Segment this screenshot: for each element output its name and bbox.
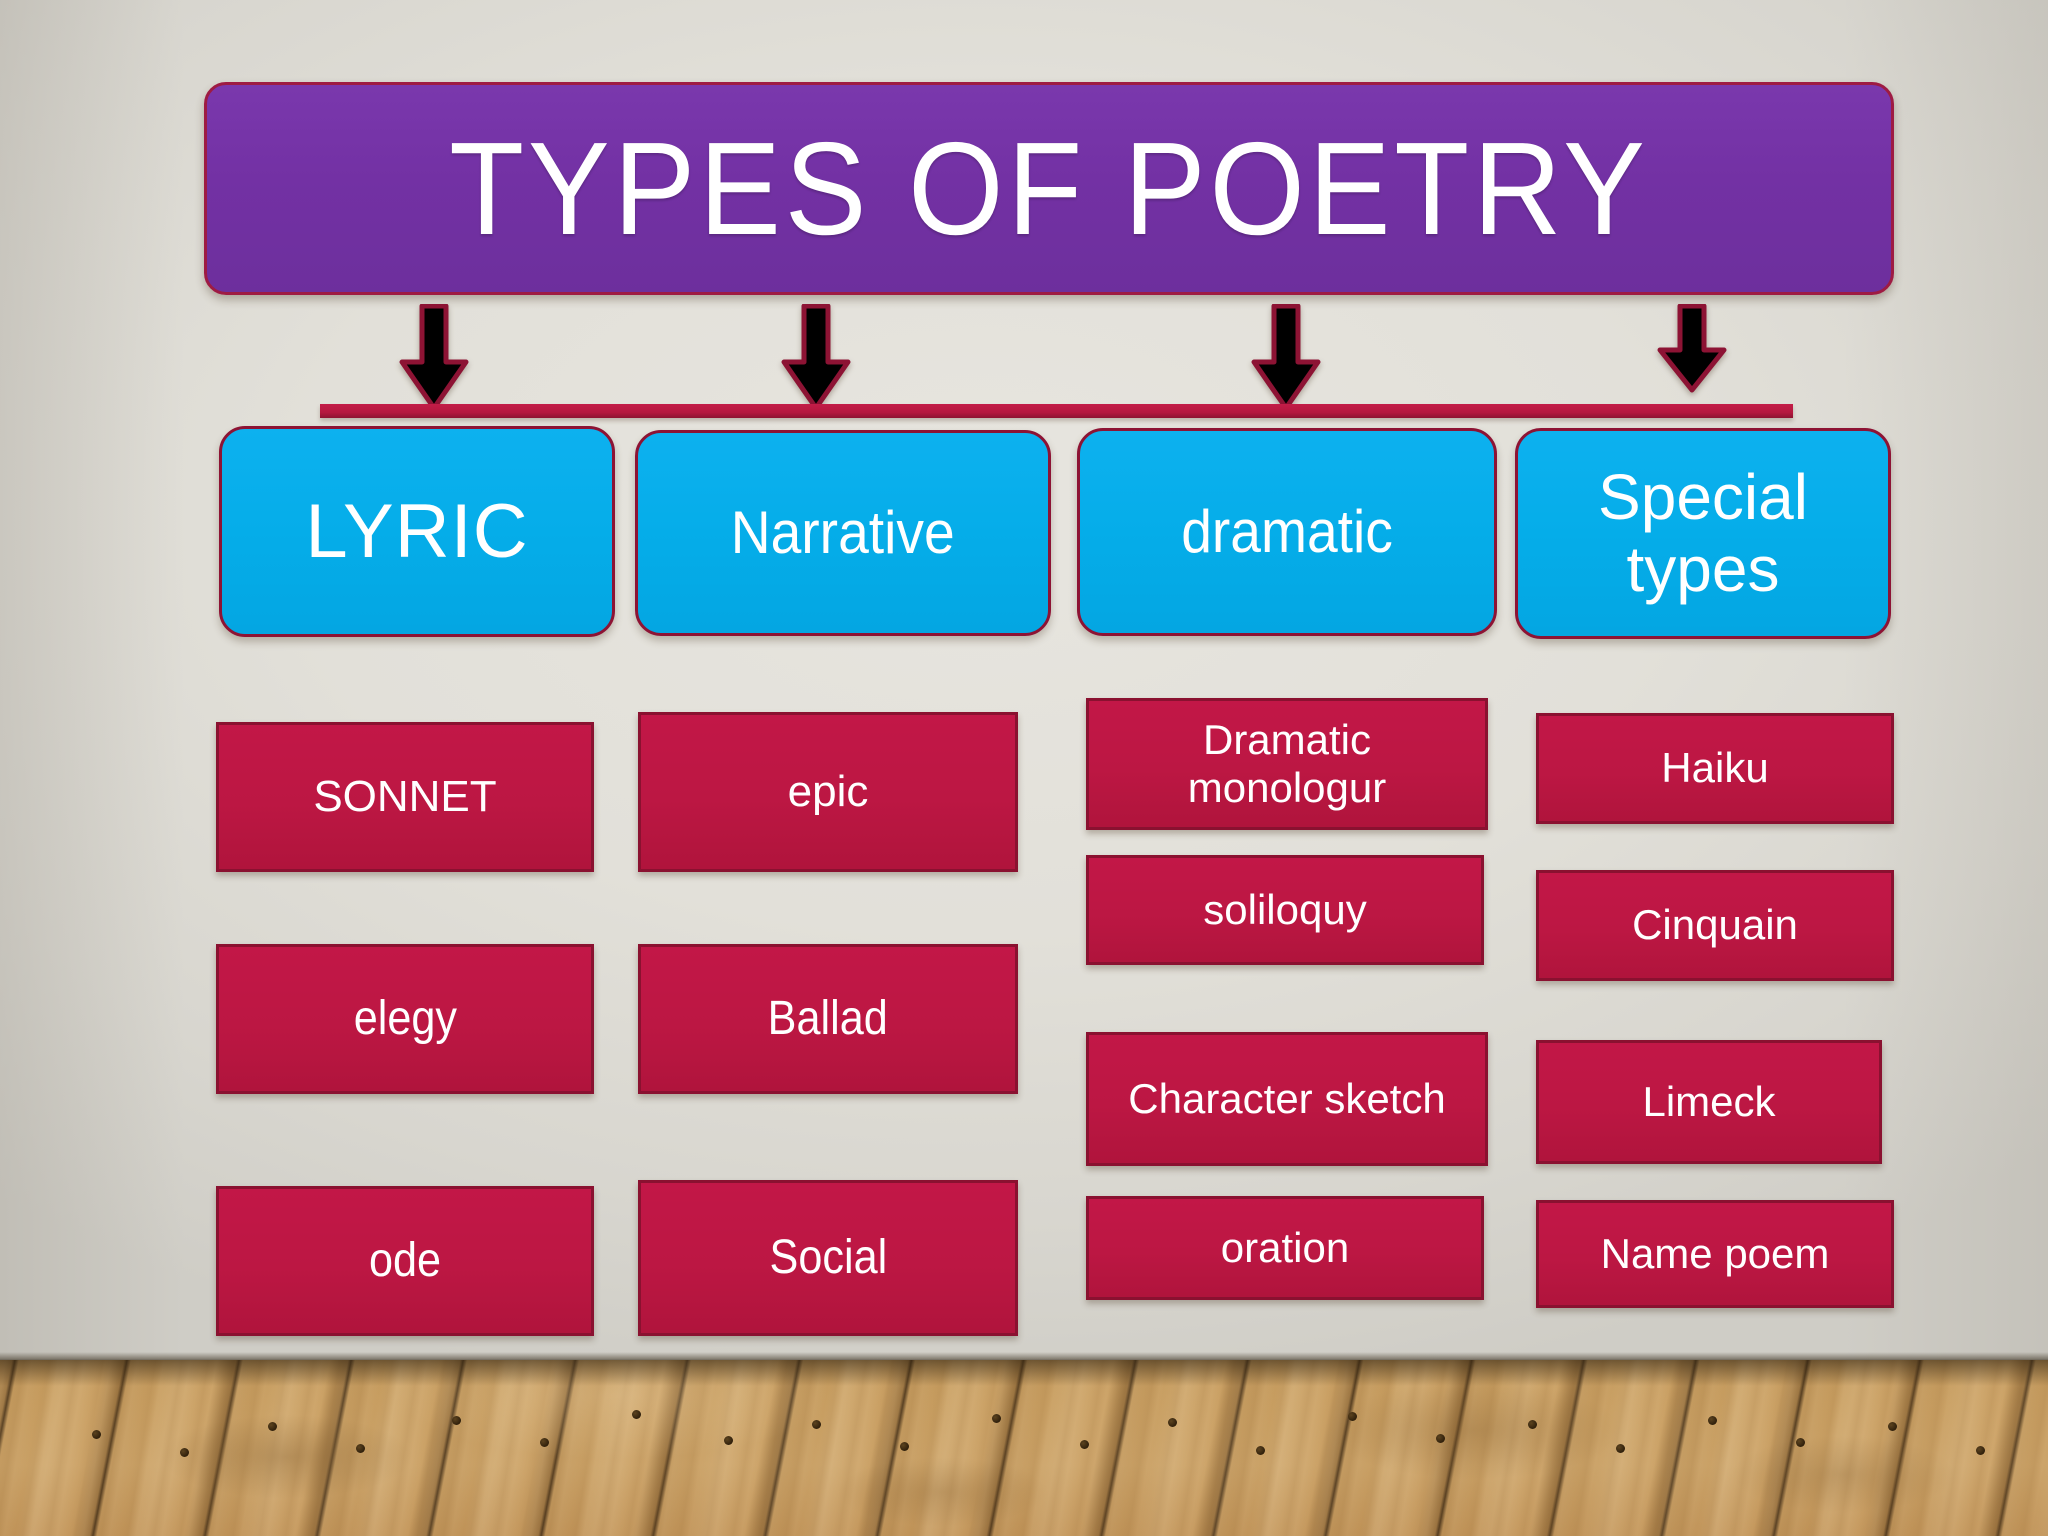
leaf-box-character-sketch[interactable]: Character sketch — [1086, 1032, 1488, 1166]
leaf-label-elegy: elegy — [344, 991, 465, 1046]
arrow-down-lyric — [398, 304, 470, 412]
floor-nails — [0, 1360, 2048, 1536]
leaf-box-cinquain[interactable]: Cinquain — [1536, 870, 1894, 981]
leaf-box-soliloquy[interactable]: soliloquy — [1086, 855, 1484, 965]
leaf-label-ode: ode — [360, 1233, 450, 1288]
category-label-dramatic: dramatic — [1174, 498, 1400, 565]
leaf-box-dramatic-monologur[interactable]: Dramatic monologur — [1086, 698, 1488, 830]
arrow-down-dramatic — [1250, 304, 1322, 412]
leaf-box-name-poem[interactable]: Name poem — [1536, 1200, 1894, 1308]
leaf-label-social: Social — [760, 1230, 896, 1285]
leaf-label-character-sketch: Character sketch — [1118, 1075, 1455, 1123]
leaf-box-epic[interactable]: epic — [638, 712, 1018, 872]
page-title: TYPES OF POETRY — [449, 123, 1649, 255]
leaf-label-epic: epic — [778, 767, 879, 818]
category-box-dramatic[interactable]: dramatic — [1077, 428, 1497, 636]
slide-canvas: TYPES OF POETRY LYRIC Narrative dramatic… — [0, 0, 2048, 1536]
leaf-label-haiku: Haiku — [1651, 744, 1778, 792]
leaf-label-oration: oration — [1211, 1224, 1359, 1272]
leaf-box-haiku[interactable]: Haiku — [1536, 713, 1894, 824]
category-label-narrative: Narrative — [724, 499, 963, 566]
leaf-label-dramatic-monologur: Dramatic monologur — [1089, 716, 1485, 813]
leaf-label-limeck: Limeck — [1632, 1078, 1785, 1126]
leaf-box-ode[interactable]: ode — [216, 1186, 594, 1336]
slide-title-banner: TYPES OF POETRY — [204, 82, 1894, 295]
leaf-label-ballad: Ballad — [759, 991, 897, 1046]
wooden-floor — [0, 1360, 2048, 1536]
leaf-box-ballad[interactable]: Ballad — [638, 944, 1018, 1094]
leaf-label-name-poem: Name poem — [1591, 1230, 1840, 1278]
arrow-down-special — [1656, 304, 1728, 394]
leaf-label-cinquain: Cinquain — [1622, 901, 1808, 949]
divider-line — [320, 404, 1793, 418]
leaf-box-sonnet[interactable]: SONNET — [216, 722, 594, 872]
category-label-lyric: LYRIC — [297, 489, 536, 574]
category-label-special-types: Special types — [1518, 462, 1888, 605]
category-box-special-types[interactable]: Special types — [1515, 428, 1891, 639]
leaf-label-sonnet: SONNET — [303, 772, 506, 823]
category-box-lyric[interactable]: LYRIC — [219, 426, 615, 637]
leaf-box-oration[interactable]: oration — [1086, 1196, 1484, 1300]
leaf-box-elegy[interactable]: elegy — [216, 944, 594, 1094]
category-box-narrative[interactable]: Narrative — [635, 430, 1051, 636]
leaf-box-limeck[interactable]: Limeck — [1536, 1040, 1882, 1164]
leaf-box-social[interactable]: Social — [638, 1180, 1018, 1336]
arrow-down-narrative — [780, 304, 852, 412]
leaf-label-soliloquy: soliloquy — [1193, 886, 1376, 934]
